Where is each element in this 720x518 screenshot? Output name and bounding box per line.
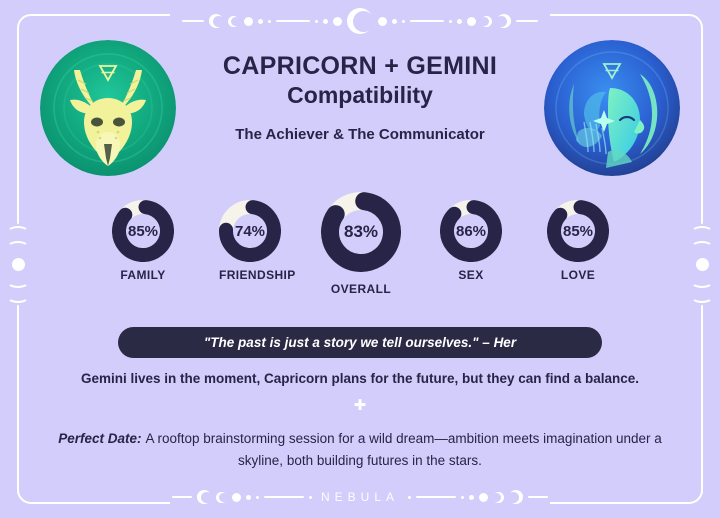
crescent-icon bbox=[509, 490, 523, 504]
gauge-ring: 85% bbox=[112, 200, 174, 262]
crescent-icon bbox=[228, 16, 239, 27]
ornament-line bbox=[416, 496, 456, 498]
page-title-line1: CAPRICORN + GEMINI bbox=[180, 52, 540, 80]
crescent-moon-icon bbox=[347, 8, 373, 34]
perfect-date-body: A rooftop brainstorming session for a wi… bbox=[146, 431, 662, 468]
perfect-date-label: Perfect Date: bbox=[58, 431, 141, 446]
gauge-ring: 83% bbox=[321, 192, 401, 272]
celestial-divider-top bbox=[0, 6, 720, 36]
crescent-icon bbox=[481, 16, 492, 27]
dot-icon bbox=[408, 496, 411, 499]
crescent-icon bbox=[209, 14, 223, 28]
gauge-value: 74% bbox=[219, 200, 281, 262]
ornament-line bbox=[528, 496, 548, 498]
crescent-icon bbox=[497, 14, 511, 28]
dot-icon bbox=[268, 20, 271, 23]
gemini-twins-emblem bbox=[544, 40, 680, 176]
ornament-line bbox=[410, 20, 444, 22]
dot-icon bbox=[256, 496, 259, 499]
compatibility-gauges: 85%FAMILY74%FRIENDSHIP83%OVERALL86%SEX85… bbox=[0, 192, 720, 300]
gauge-value: 85% bbox=[547, 200, 609, 262]
crescent-icon bbox=[197, 490, 211, 504]
header-block: CAPRICORN + GEMINI Compatibility The Ach… bbox=[180, 52, 540, 143]
crescent-icon bbox=[216, 492, 227, 503]
gauge-value: 85% bbox=[112, 200, 174, 262]
brand-wordmark: NEBULA bbox=[321, 490, 399, 504]
ornament-line bbox=[17, 305, 19, 319]
dot-icon bbox=[244, 17, 253, 26]
dot-icon bbox=[461, 496, 464, 499]
page-title-line2: Compatibility bbox=[180, 82, 540, 110]
dot-icon bbox=[467, 17, 476, 26]
gauge-label: LOVE bbox=[547, 268, 609, 282]
ornament-line bbox=[516, 20, 538, 22]
dot-icon bbox=[449, 20, 452, 23]
dot-icon bbox=[315, 20, 318, 23]
capricorn-goat-emblem bbox=[40, 40, 176, 176]
gauge-label: FRIENDSHIP bbox=[219, 268, 281, 282]
gauge-ring: 86% bbox=[440, 200, 502, 262]
dot-icon bbox=[232, 493, 241, 502]
crescent-icon bbox=[493, 492, 504, 503]
ornament-line bbox=[172, 496, 192, 498]
gauge-love: 85%LOVE bbox=[547, 200, 609, 282]
dot-icon bbox=[479, 493, 488, 502]
dot-icon bbox=[246, 495, 251, 500]
gauge-ring: 74% bbox=[219, 200, 281, 262]
gauge-value: 83% bbox=[321, 192, 401, 272]
quote-banner: "The past is just a story we tell oursel… bbox=[118, 327, 602, 358]
dot-icon bbox=[469, 495, 474, 500]
gauge-ring: 85% bbox=[547, 200, 609, 262]
perfect-date-text: Perfect Date:A rooftop brainstorming ses… bbox=[58, 428, 662, 473]
ornament-line bbox=[264, 496, 304, 498]
dot-icon bbox=[258, 19, 263, 24]
gauge-family: 85%FAMILY bbox=[112, 200, 174, 282]
summary-text: Gemini lives in the moment, Capricorn pl… bbox=[30, 371, 690, 386]
dot-icon bbox=[402, 20, 405, 23]
gauge-sex: 86%SEX bbox=[440, 200, 502, 282]
gauge-overall: 83%OVERALL bbox=[321, 192, 401, 296]
gauge-value: 86% bbox=[440, 200, 502, 262]
ornament-line bbox=[182, 20, 204, 22]
sparkle-icon: ✚ bbox=[0, 398, 720, 413]
dot-icon bbox=[457, 19, 462, 24]
compatibility-infographic: NEBULA bbox=[0, 0, 720, 518]
celestial-divider-bottom: NEBULA bbox=[0, 482, 720, 512]
dot-icon bbox=[323, 19, 328, 24]
dot-icon bbox=[378, 17, 387, 26]
gauge-label: FAMILY bbox=[112, 268, 174, 282]
gauge-label: SEX bbox=[440, 268, 502, 282]
dot-icon bbox=[333, 17, 342, 26]
dot-icon bbox=[392, 19, 397, 24]
gauge-label: OVERALL bbox=[321, 282, 401, 296]
page-subtitle: The Achiever & The Communicator bbox=[180, 126, 540, 143]
gauge-friendship: 74%FRIENDSHIP bbox=[219, 200, 281, 282]
dot-icon bbox=[309, 496, 312, 499]
ornament-line bbox=[701, 305, 703, 319]
ornament-line bbox=[276, 20, 310, 22]
